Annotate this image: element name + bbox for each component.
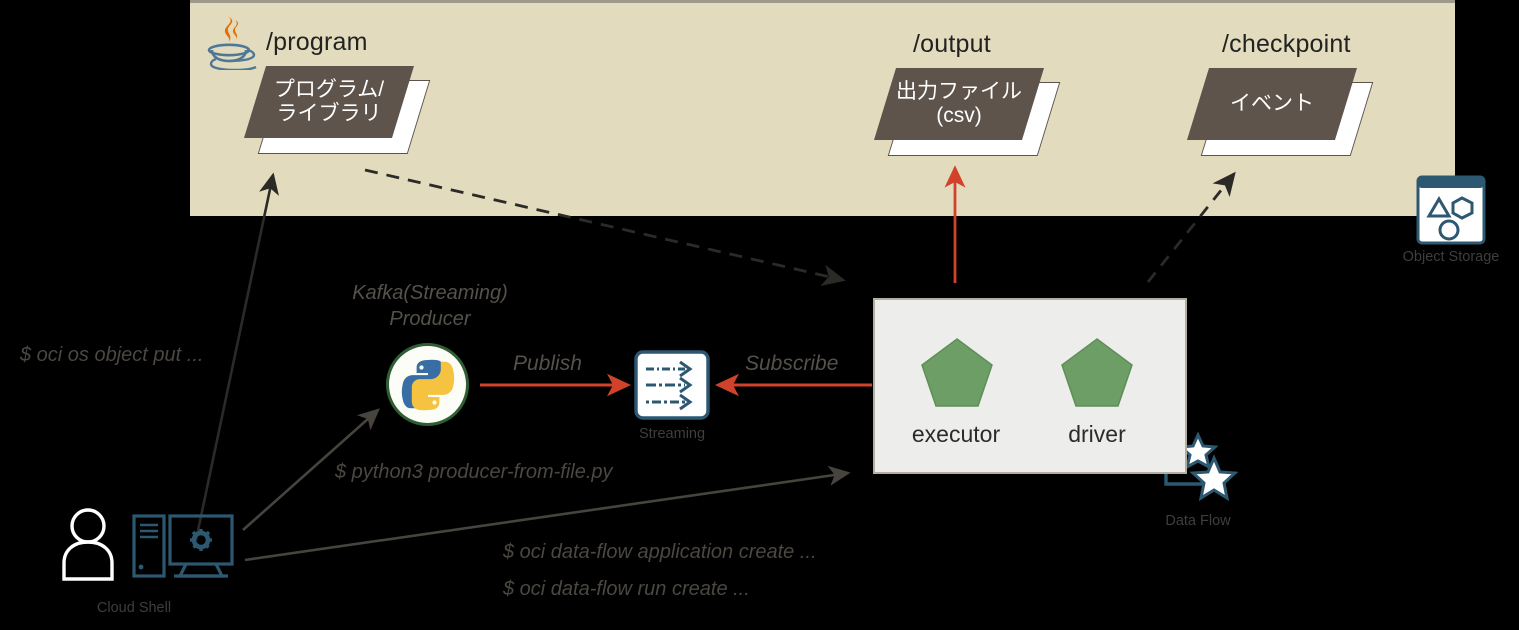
subscribe-label: Subscribe xyxy=(745,352,838,376)
command-app-create: $ oci data-flow application create ... xyxy=(503,541,817,564)
streaming-label: Streaming xyxy=(594,426,750,442)
diagram-canvas: /program /output /checkpoint プログラム/ ライブラ… xyxy=(0,0,1519,630)
driver-pentagon-icon xyxy=(1060,337,1134,409)
object-storage-label: Object Storage xyxy=(1372,249,1519,265)
cloud-shell-icon xyxy=(58,505,234,585)
cloud-shell-label: Cloud Shell xyxy=(56,600,212,616)
command-run-create: $ oci data-flow run create ... xyxy=(503,578,750,601)
executor-pentagon-icon xyxy=(920,337,994,409)
python-icon xyxy=(400,357,456,413)
executor-label: executor xyxy=(880,421,1032,448)
command-python-producer: $ python3 producer-from-file.py xyxy=(335,461,613,484)
driver-label: driver xyxy=(1021,421,1173,448)
arrow-dataflow-to-checkpoint xyxy=(1148,174,1234,282)
arrow-program-to-dataflow xyxy=(365,170,843,280)
data-flow-label: Data Flow xyxy=(1120,513,1276,529)
publish-label: Publish xyxy=(513,352,582,376)
arrow-shell-to-program xyxy=(196,175,273,540)
command-object-put: $ oci os object put ... xyxy=(20,344,203,367)
object-storage-icon xyxy=(1415,174,1487,246)
producer-title: Kafka(Streaming) Producer xyxy=(330,280,530,333)
streaming-icon xyxy=(633,350,711,422)
